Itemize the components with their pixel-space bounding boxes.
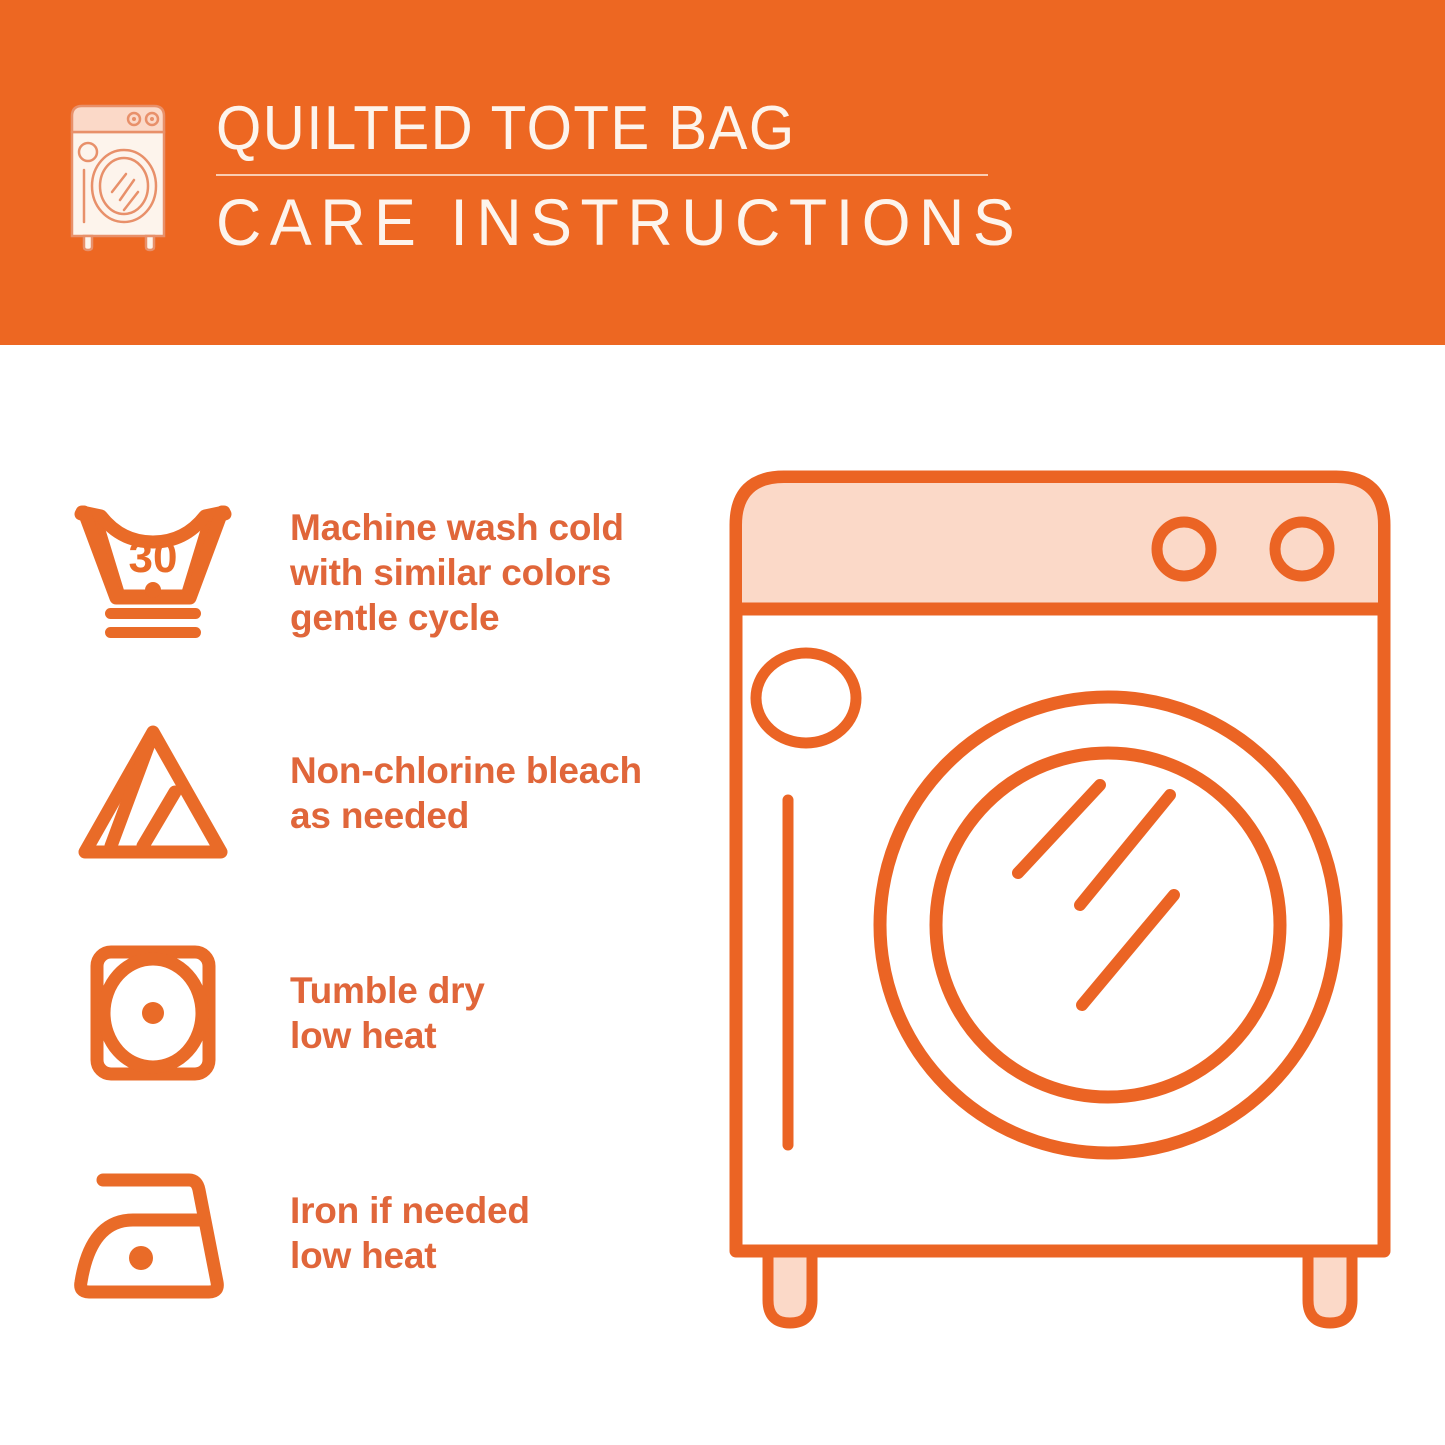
care-symbol-slot: 30 xyxy=(68,498,238,648)
page-subtitle: CARE INSTRUCTIONS xyxy=(216,186,1023,258)
care-row-bleach: Non-chlorine bleach as needed xyxy=(68,705,688,880)
care-line: Iron if needed xyxy=(290,1188,530,1233)
machine-wash-30-icon: 30 xyxy=(71,498,235,648)
care-symbol-slot xyxy=(68,938,238,1088)
page-title: QUILTED TOTE BAG xyxy=(216,96,1015,162)
care-label-iron: Iron if needed low heat xyxy=(290,1188,530,1278)
care-label-bleach: Non-chlorine bleach as needed xyxy=(290,748,642,838)
care-row-iron: Iron if needed low heat xyxy=(68,1145,688,1320)
care-instructions-list: 30 Machine wash cold with similar colors… xyxy=(68,485,688,1320)
iron-low-heat-icon xyxy=(71,1158,235,1308)
washer-control-panel xyxy=(742,483,1378,609)
main-content: 30 Machine wash cold with similar colors… xyxy=(0,345,1445,1445)
care-row-tumble-dry: Tumble dry low heat xyxy=(68,925,688,1100)
care-line: low heat xyxy=(290,1233,530,1278)
care-line: low heat xyxy=(290,1013,485,1058)
care-line: Machine wash cold xyxy=(290,505,624,550)
wash-dot-icon xyxy=(145,582,161,598)
washer-svg xyxy=(700,455,1420,1375)
tumble-dry-low-icon xyxy=(71,938,235,1088)
washing-machine-icon xyxy=(62,100,180,252)
header-banner: QUILTED TOTE BAG CARE INSTRUCTIONS xyxy=(0,0,1445,345)
header-content: QUILTED TOTE BAG CARE INSTRUCTIONS xyxy=(62,96,1066,258)
care-line: Non-chlorine bleach xyxy=(290,748,642,793)
care-symbol-slot xyxy=(68,718,238,868)
header-titles: QUILTED TOTE BAG CARE INSTRUCTIONS xyxy=(216,96,1066,258)
care-label-tumble-dry: Tumble dry low heat xyxy=(290,968,485,1058)
care-label-machine-wash: Machine wash cold with similar colors ge… xyxy=(290,505,624,640)
wash-temperature-value: 30 xyxy=(129,533,178,582)
care-line: as needed xyxy=(290,793,642,838)
care-row-machine-wash: 30 Machine wash cold with similar colors… xyxy=(68,485,688,660)
washing-machine-illustration xyxy=(700,455,1420,1375)
care-line: Tumble dry xyxy=(290,968,485,1013)
care-line: with similar colors xyxy=(290,550,624,595)
care-symbol-slot xyxy=(68,1158,238,1308)
title-divider xyxy=(216,174,988,176)
non-chlorine-bleach-icon xyxy=(71,718,235,868)
care-line: gentle cycle xyxy=(290,595,624,640)
iron-dot-icon xyxy=(129,1246,153,1270)
tumble-dry-dot-icon xyxy=(142,1002,164,1024)
